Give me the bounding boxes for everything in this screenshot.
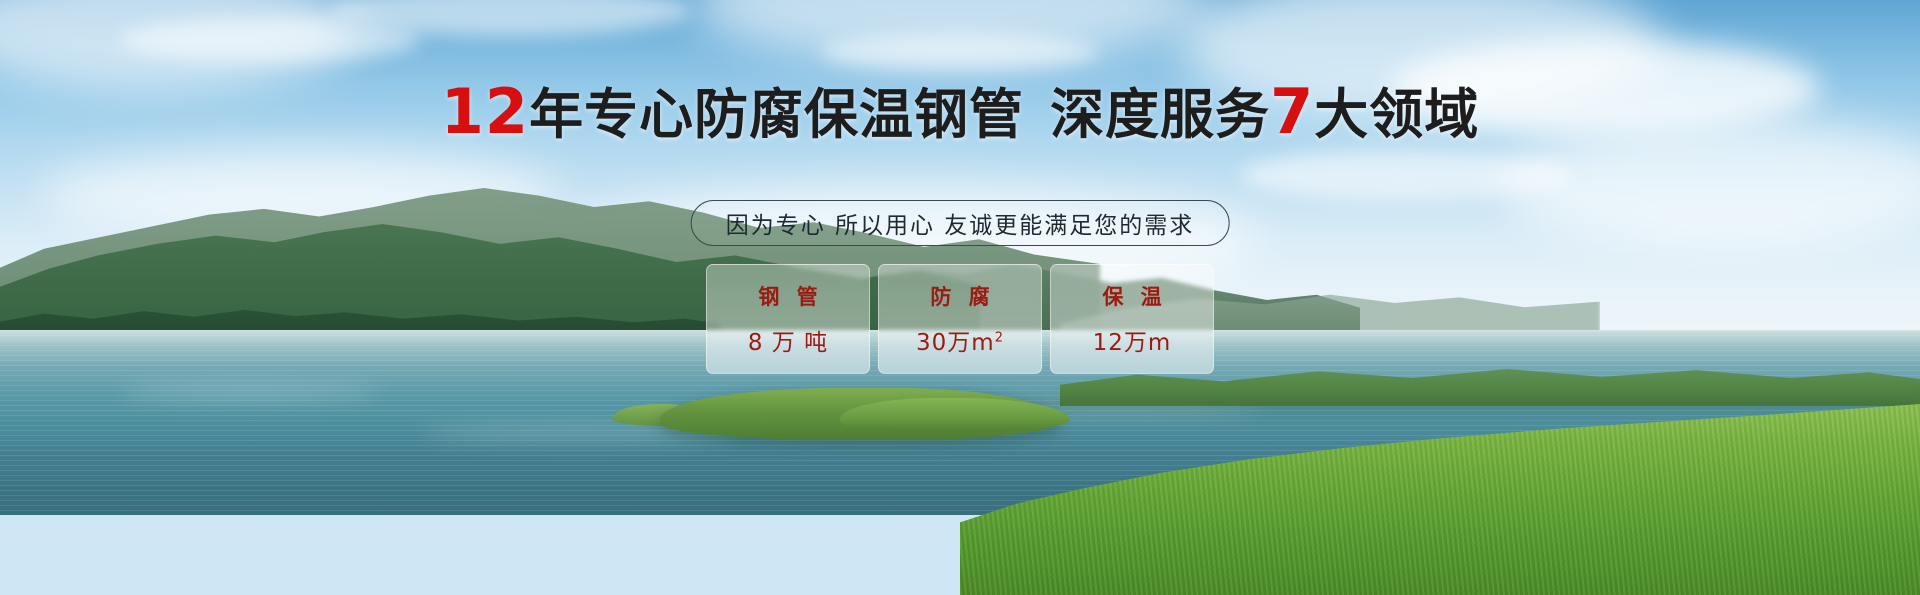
stat-value: 30万m2 <box>916 323 1004 357</box>
cloud-shape <box>820 34 1100 70</box>
stat-card-insulation: 保 温 12万m <box>1050 264 1214 374</box>
stat-card-anticorrosion: 防 腐 30万m2 <box>878 264 1042 374</box>
grass-island-secondary <box>840 398 1070 432</box>
headline-fields-text: 大领域 <box>1314 83 1479 146</box>
headline-service-text: 深度服务 <box>1050 83 1270 146</box>
stats-card-group: 钢 管 8 万 吨 防 腐 30万m2 保 温 12万m <box>706 264 1214 374</box>
subtitle-text: 因为专心 所以用心 友诚更能满足您的需求 <box>726 206 1195 240</box>
stat-label: 保 温 <box>1097 281 1166 311</box>
banner-headline: 12年专心防腐保温钢管深度服务7大领域 <box>0 82 1920 145</box>
water-glint <box>120 384 380 400</box>
cloud-shape <box>1240 150 1570 200</box>
headline-main-text: 年专心防腐保温钢管 <box>529 83 1024 146</box>
stat-card-steel-pipe: 钢 管 8 万 吨 <box>706 264 870 374</box>
subtitle-pill: 因为专心 所以用心 友诚更能满足您的需求 <box>691 200 1230 246</box>
stat-value-text: 12万m <box>1093 330 1172 356</box>
stat-value-text: 8 万 吨 <box>748 330 828 356</box>
stat-value: 12万m <box>1093 323 1172 357</box>
headline-fields-number: 7 <box>1270 75 1314 148</box>
stat-value-text: 30万m <box>916 330 995 356</box>
headline-years-number: 12 <box>441 75 529 148</box>
stat-value: 8 万 吨 <box>748 323 828 357</box>
stat-label: 防 腐 <box>925 281 994 311</box>
stat-label: 钢 管 <box>753 281 822 311</box>
hero-banner: 12年专心防腐保温钢管深度服务7大领域 因为专心 所以用心 友诚更能满足您的需求… <box>0 0 1920 595</box>
stat-value-superscript: 2 <box>995 330 1004 345</box>
